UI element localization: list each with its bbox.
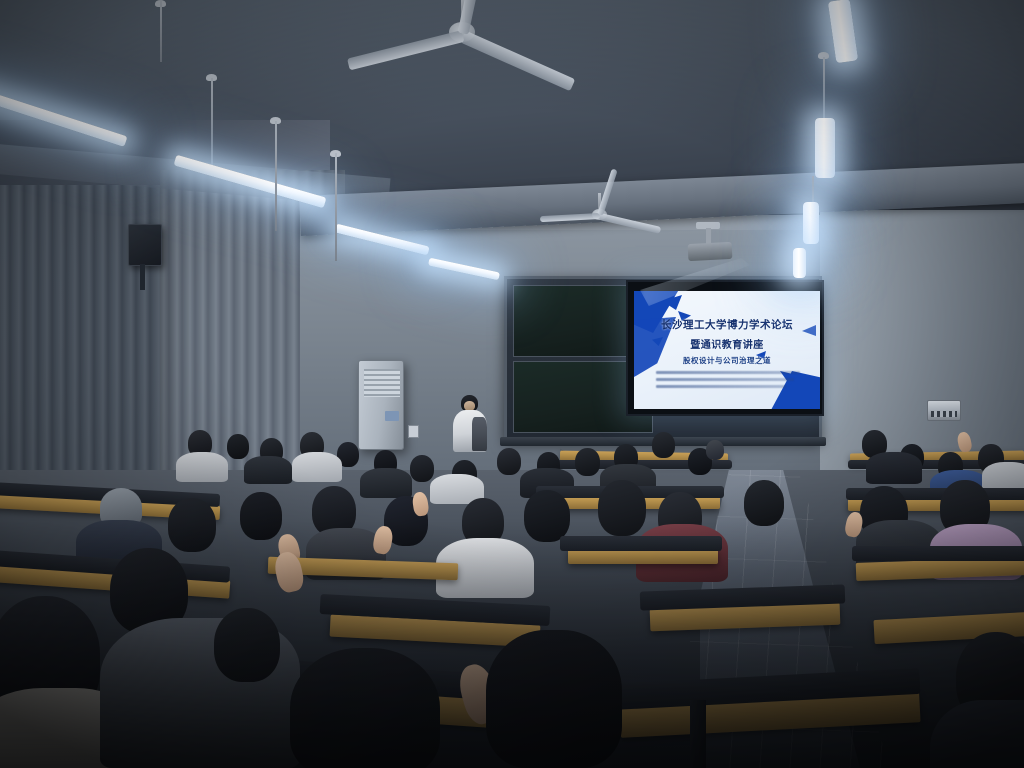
head — [575, 448, 600, 476]
wall-outlet — [408, 425, 419, 438]
ac-display-panel — [385, 411, 399, 421]
fluorescent-tube-light — [803, 202, 819, 244]
bench-leg — [690, 700, 706, 768]
head — [227, 434, 249, 459]
slide-body-line — [656, 371, 800, 374]
floor-air-conditioner — [358, 360, 404, 450]
head — [168, 498, 216, 552]
lecture-hall-photo: 长沙理工大学博力学术论坛 暨通识教育讲座 股权设计与公司治理之道 — [0, 0, 1024, 768]
presentation-slide: 长沙理工大学博力学术论坛 暨通识教育讲座 股权设计与公司治理之道 — [634, 291, 820, 409]
ac-vents — [364, 369, 400, 397]
wall-speaker-icon — [128, 224, 162, 266]
slide-title-line2: 暨通识教育讲座 — [634, 336, 820, 351]
light-rod — [160, 0, 162, 62]
ceiling-projector — [688, 242, 733, 261]
head — [497, 448, 521, 475]
audience-torso — [292, 452, 342, 482]
audience-torso — [244, 456, 292, 484]
head — [652, 432, 675, 458]
head — [706, 440, 724, 460]
light-rod — [211, 78, 213, 176]
slide-body-line — [656, 378, 794, 381]
light-rod — [823, 57, 825, 119]
light-rod — [335, 153, 337, 261]
head — [240, 492, 282, 540]
slide-body-line — [656, 385, 786, 388]
fluorescent-tube-light — [793, 248, 806, 278]
presenter — [450, 395, 490, 457]
wall-control-panel — [927, 400, 961, 421]
head — [598, 480, 646, 536]
head — [524, 490, 570, 542]
light-rod — [275, 121, 277, 231]
wall-speaker-bracket — [140, 264, 145, 290]
head-long-hair — [290, 648, 440, 768]
audience-torso — [176, 452, 228, 482]
head-long-hair — [486, 630, 622, 768]
fluorescent-tube-light — [815, 118, 835, 178]
slide-body-text — [656, 371, 800, 392]
head — [744, 480, 784, 526]
audience-torso — [360, 468, 412, 498]
bench-back — [852, 546, 1024, 561]
head — [410, 455, 434, 482]
bench-back — [560, 536, 722, 551]
slide-subtitle: 股权设计与公司治理之道 — [634, 355, 820, 366]
slide-title-line1: 长沙理工大学博力学术论坛 — [634, 317, 820, 332]
presenter-jacket-dark — [472, 417, 487, 451]
head — [214, 608, 280, 682]
audience-torso — [866, 452, 922, 484]
